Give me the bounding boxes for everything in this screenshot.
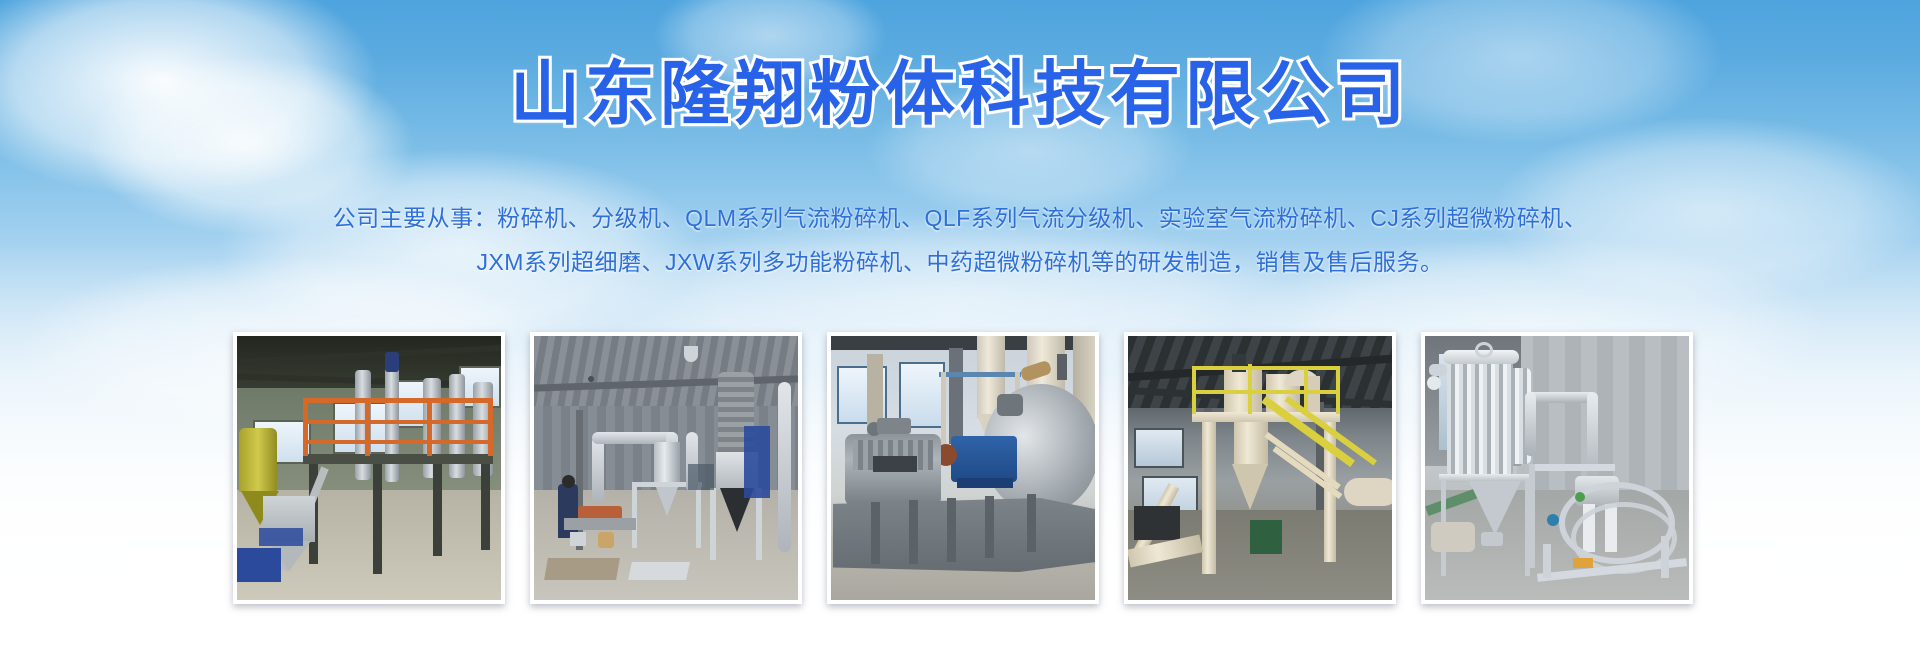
product-photo-strip xyxy=(233,332,1693,604)
duct-vertical xyxy=(592,436,604,502)
filter-leg xyxy=(710,488,716,560)
product-photo-1[interactable] xyxy=(233,332,505,604)
rail-top xyxy=(1192,366,1340,370)
platform-rail-post xyxy=(427,398,432,456)
pipe-riser xyxy=(1525,392,1536,456)
blue-valve-handle xyxy=(1547,514,1559,526)
dark-equipment xyxy=(1134,506,1180,540)
rail-post xyxy=(1248,364,1252,414)
roof xyxy=(534,336,798,414)
floor-object xyxy=(1431,522,1475,552)
platform-rail-mid xyxy=(303,420,493,424)
support-leg xyxy=(632,482,637,548)
support-column xyxy=(1202,422,1216,574)
cyclone-system-photo xyxy=(534,336,798,600)
worker-head xyxy=(562,475,575,488)
platform-leg xyxy=(433,464,442,556)
platform-deck xyxy=(303,454,493,464)
company-description: 公司主要从事：粉碎机、分级机、QLM系列气流粉碎机、QLF系列气流分级机、实验室… xyxy=(0,196,1920,284)
roof-bolt xyxy=(588,376,594,382)
green-indicator xyxy=(1575,492,1585,502)
bucket xyxy=(570,532,586,546)
base-leg xyxy=(1543,544,1551,578)
platform-leg xyxy=(481,464,490,550)
mid-frame xyxy=(1529,464,1615,471)
blue-panel xyxy=(744,426,770,498)
rail-mid xyxy=(1192,390,1340,394)
sheet-on-floor xyxy=(628,562,690,580)
sack xyxy=(598,532,614,548)
mill-column xyxy=(1234,422,1268,466)
window xyxy=(1134,428,1184,468)
homepage-banner: 山东隆翔粉体科技有限公司 公司主要从事：粉碎机、分级机、QLM系列气流粉碎机、Q… xyxy=(0,0,1920,667)
platform-rail-post xyxy=(303,398,308,456)
conveyor xyxy=(564,518,636,530)
company-name-title: 山东隆翔粉体科技有限公司 xyxy=(0,56,1920,133)
skid-rib xyxy=(909,500,918,564)
wood-pallet xyxy=(544,558,620,580)
frame-leg xyxy=(1529,464,1535,568)
support-leg xyxy=(696,482,701,548)
description-line-2: JXM系列超细磨、JXW系列多功能粉碎机、中药超微粉碎机等的研发制造，销售及售后… xyxy=(0,240,1920,284)
platform-rail-post xyxy=(365,398,370,456)
base-leg xyxy=(1661,536,1669,578)
terminal-box xyxy=(877,418,911,434)
green-machine xyxy=(1250,520,1282,554)
blue-bin xyxy=(237,548,281,582)
motor-nameplate xyxy=(873,456,917,472)
gauge xyxy=(1427,376,1441,390)
frame-leg xyxy=(941,372,946,454)
side-valve xyxy=(1429,364,1447,376)
duct-tall xyxy=(778,382,791,552)
skid-rib xyxy=(947,498,956,562)
cyclone-body xyxy=(654,442,680,484)
mill-cone xyxy=(1232,464,1268,510)
motor-top xyxy=(385,352,399,372)
yellow-tag xyxy=(1573,558,1593,568)
skid-rib xyxy=(871,502,880,564)
frame-rail xyxy=(939,372,1021,377)
yellow-tank xyxy=(239,428,277,492)
shell-inlet-flange xyxy=(997,394,1023,416)
product-photo-2[interactable] xyxy=(530,332,802,604)
product-photo-5[interactable] xyxy=(1421,332,1693,604)
description-line-1: 公司主要从事：粉碎机、分级机、QLM系列气流粉碎机、QLF系列气流分级机、实验室… xyxy=(0,196,1920,240)
product-photo-4[interactable] xyxy=(1124,332,1396,604)
platform-rail-low xyxy=(303,440,493,444)
motor-blower-photo xyxy=(831,336,1095,600)
platform-rail-top xyxy=(303,398,493,403)
cylindrical-tank xyxy=(1344,478,1392,506)
collector-vessel xyxy=(1447,356,1513,476)
gearbox xyxy=(951,436,1017,482)
platform-leg xyxy=(373,464,382,574)
pillar xyxy=(949,348,963,444)
cyclone-cone xyxy=(654,482,680,516)
skid-rib xyxy=(1027,494,1036,552)
ceiling-lamp xyxy=(684,346,698,362)
gearbox-base xyxy=(957,478,1013,488)
product-photo-3[interactable] xyxy=(827,332,1099,604)
filter-leg xyxy=(756,488,762,560)
lab-jet-mill-photo xyxy=(1425,336,1689,600)
platform-rail-post xyxy=(488,398,493,456)
sensor-rod xyxy=(1057,354,1067,380)
discharge-valve xyxy=(1481,532,1503,546)
classifier-tower-photo xyxy=(1128,336,1392,600)
lifting-ring xyxy=(1475,342,1493,358)
factory-line-photo xyxy=(237,336,501,600)
blue-bin xyxy=(259,528,303,546)
discharge-cone xyxy=(1469,481,1521,535)
block-wall xyxy=(688,464,714,490)
skid-rib xyxy=(985,496,994,558)
